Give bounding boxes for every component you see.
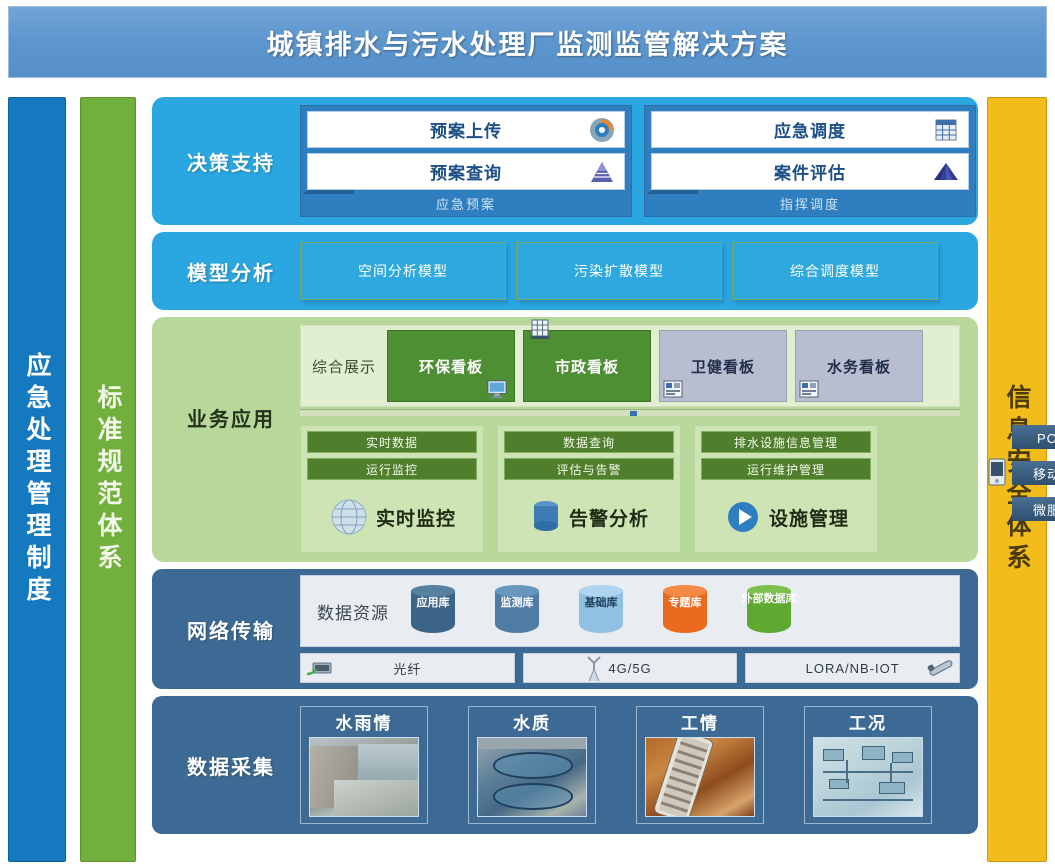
collection-card-water-quality[interactable]: 水质 (468, 706, 596, 824)
database-label: 基础库 (573, 597, 629, 610)
layer-model-analysis-label: 模型分析 (168, 232, 294, 310)
pyramid-icon (588, 158, 616, 186)
decision-item-case-assessment[interactable]: 案件评估 (651, 153, 969, 190)
business-column-alarm: 数据查询 评估与告警 告警分析 (497, 425, 681, 553)
photo-overlay (310, 738, 418, 816)
business-button-drainage-facility-info[interactable]: 排水设施信息管理 (701, 431, 871, 453)
layer-data-collection: 数据采集 水雨情 水质 (152, 696, 978, 834)
database-label: 外部数据库 (741, 593, 797, 606)
sewage-tanks-photo (477, 737, 587, 817)
decision-item-label: 预案查询 (430, 159, 502, 184)
decision-item-label: 应急调度 (774, 117, 846, 142)
business-feature-alarm-analysis[interactable]: 告警分析 (498, 488, 680, 546)
collection-card-title: 工情 (637, 707, 763, 735)
page-title-bar: 城镇排水与污水处理厂监测监管解决方案 (8, 6, 1047, 78)
database-icon (529, 497, 563, 537)
chart-node-icon (662, 379, 684, 399)
globe-icon (328, 496, 370, 538)
board-municipal[interactable]: 市政看板 (523, 330, 651, 402)
network-link-4g5g[interactable]: 4G/5G (523, 653, 738, 683)
chart-node-icon (798, 379, 820, 399)
board-environment[interactable]: 环保看板 (387, 330, 515, 402)
fiber-icon (307, 658, 335, 678)
board-label: 环保看板 (419, 356, 483, 377)
business-feature-realtime-monitoring[interactable]: 实时监控 (301, 488, 483, 546)
decision-item-plan-query[interactable]: 预案查询 (307, 153, 625, 190)
layer-model-analysis: 模型分析 空间分析模型 污染扩散模型 综合调度模型 (152, 232, 978, 310)
layer-network-transmission-label: 网络传输 (168, 569, 294, 689)
business-button-assessment-alarm[interactable]: 评估与告警 (504, 458, 674, 480)
database-label: 监测库 (489, 597, 545, 610)
layer-business-application: 业务应用 综合展示 环保看板 市政看板 (152, 317, 978, 562)
collection-card-water-rain[interactable]: 水雨情 (300, 706, 428, 824)
page-title: 城镇排水与污水处理厂监测监管解决方案 (267, 23, 789, 62)
board-label: 市政看板 (555, 356, 619, 377)
river-embankment-photo (309, 737, 419, 817)
cylinder-top (495, 585, 539, 597)
pipeline-trench-photo (645, 737, 755, 817)
pyramid-dark-icon (932, 158, 960, 186)
building-icon (528, 317, 552, 341)
pillar-emergency-management: 应急处理管理制度 (8, 97, 66, 862)
layer-business-application-label: 业务应用 (168, 387, 294, 447)
board-water[interactable]: 水务看板 (795, 330, 923, 402)
model-box-spatial[interactable]: 空间分析模型 (300, 242, 506, 300)
monitor-icon (486, 379, 508, 399)
business-feature-facility-management[interactable]: 设施管理 (695, 488, 877, 546)
collection-card-title: 工况 (805, 707, 931, 735)
business-column-monitoring: 实时数据 运行监控 实时监控 (300, 425, 484, 553)
board-label: 卫健看板 (691, 356, 755, 377)
network-link-lora[interactable]: LORA/NB-IOT (745, 653, 960, 683)
device-channel-list: PC端 移动端 微服务 (1012, 425, 1055, 533)
decision-group-emergency-plan: 预案上传 预案查询 (300, 105, 632, 217)
showcase-scrollbar[interactable] (300, 409, 960, 416)
antenna-icon (584, 655, 604, 683)
database-label: 应用库 (405, 597, 461, 610)
decision-item-emergency-dispatch[interactable]: 应急调度 (651, 111, 969, 148)
device-label: 微服务 (1033, 500, 1055, 519)
business-button-maintenance-mgmt[interactable]: 运行维护管理 (701, 458, 871, 480)
play-icon (723, 497, 763, 537)
database-external[interactable]: 外部数据库 (741, 583, 797, 639)
model-box-pollution[interactable]: 污染扩散模型 (516, 242, 722, 300)
business-button-realtime-data[interactable]: 实时数据 (307, 431, 477, 453)
device-chip-pc[interactable]: PC端 (1012, 425, 1055, 449)
scrollbar-thumb[interactable] (630, 411, 637, 416)
device-chip-microservice[interactable]: 微服务 (1012, 497, 1055, 521)
model-box-dispatch[interactable]: 综合调度模型 (732, 242, 938, 300)
showcase-strip: 综合展示 环保看板 市政看板 (300, 325, 960, 407)
database-label: 专题库 (657, 597, 713, 610)
database-basic[interactable]: 基础库 (573, 583, 629, 639)
sensor-icon (925, 656, 957, 680)
phone-icon (986, 458, 1008, 486)
collection-card-title: 水质 (469, 707, 595, 735)
collection-card-title: 水雨情 (301, 707, 427, 735)
collection-card-working-condition[interactable]: 工况 (804, 706, 932, 824)
network-link-list: 光纤 4G/5G LORA/NB-IOT (300, 653, 960, 683)
photo-overlay (814, 738, 922, 816)
showcase-label: 综合展示 (301, 356, 387, 377)
architecture-stack: 决策支持 预案上传 预案查询 (152, 97, 978, 862)
grid-table-icon (932, 116, 960, 144)
database-thematic[interactable]: 专题库 (657, 583, 713, 639)
database-application[interactable]: 应用库 (405, 583, 461, 639)
decision-group-caption: 指挥调度 (645, 194, 975, 213)
network-link-fiber[interactable]: 光纤 (300, 653, 515, 683)
cylinder-top (663, 585, 707, 597)
business-button-data-query[interactable]: 数据查询 (504, 431, 674, 453)
board-health[interactable]: 卫健看板 (659, 330, 787, 402)
solution-architecture-diagram: 城镇排水与污水处理厂监测监管解决方案 应急处理管理制度 标准规范体系 信息安全体… (0, 0, 1055, 868)
data-resource-label: 数据资源 (301, 599, 405, 624)
network-link-label: 光纤 (393, 659, 421, 678)
network-link-label: LORA/NB-IOT (806, 661, 900, 676)
collection-card-project-status[interactable]: 工情 (636, 706, 764, 824)
layer-network-transmission: 网络传输 数据资源 应用库 监测库 基础库 (152, 569, 978, 689)
business-column-facility: 排水设施信息管理 运行维护管理 设施管理 (694, 425, 878, 553)
photo-overlay (646, 738, 754, 816)
cylinder-top (411, 585, 455, 597)
device-label: PC端 (1037, 428, 1055, 447)
device-chip-mobile[interactable]: 移动端 (1012, 461, 1055, 485)
photo-overlay (478, 738, 586, 816)
layer-data-collection-label: 数据采集 (168, 696, 294, 834)
decision-item-plan-upload[interactable]: 预案上传 (307, 111, 625, 148)
business-feature-label: 设施管理 (769, 504, 849, 531)
database-monitoring[interactable]: 监测库 (489, 583, 545, 639)
scada-diagram-photo (813, 737, 923, 817)
pillar-standards-system: 标准规范体系 (80, 97, 136, 862)
decision-item-label: 预案上传 (430, 117, 502, 142)
cylinder-top (579, 585, 623, 597)
network-link-label: 4G/5G (608, 661, 651, 676)
layer-decision-support-label: 决策支持 (168, 97, 294, 225)
board-label: 水务看板 (827, 356, 891, 377)
decision-item-label: 案件评估 (774, 159, 846, 184)
layer-decision-support: 决策支持 预案上传 预案查询 (152, 97, 978, 225)
business-feature-label: 实时监控 (376, 504, 456, 531)
business-feature-label: 告警分析 (569, 504, 649, 531)
decision-group-caption: 应急预案 (301, 194, 631, 213)
cycle-icon (588, 116, 616, 144)
data-resource-panel: 数据资源 应用库 监测库 基础库 (300, 575, 960, 647)
decision-group-command-dispatch: 应急调度 案件评估 (644, 105, 976, 217)
business-button-operation-monitor[interactable]: 运行监控 (307, 458, 477, 480)
device-label: 移动端 (1033, 464, 1055, 483)
